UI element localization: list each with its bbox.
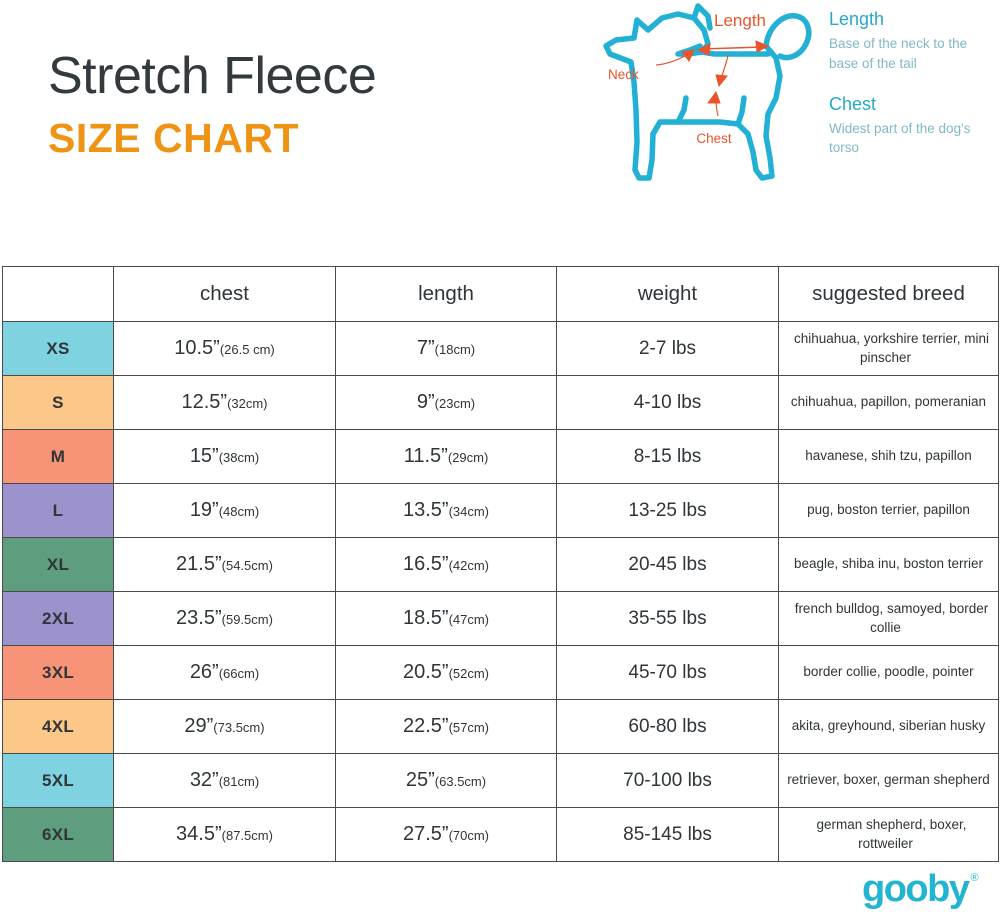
registered-trademark-icon: ® bbox=[970, 872, 978, 884]
weight-value: 13-25 lbs bbox=[628, 500, 706, 521]
breed-cell: chihuahua, yorkshire terrier, mini pinsc… bbox=[779, 322, 999, 376]
size-label: L bbox=[53, 501, 64, 520]
diagram-label-chest: Chest bbox=[696, 131, 732, 146]
weight-value: 70-100 lbs bbox=[623, 770, 712, 791]
breed-cell: german shepherd, boxer, rottweiler bbox=[779, 808, 999, 862]
breed-value: chihuahua, papillon, pomeranian bbox=[785, 394, 992, 409]
chest-measurement-cell: 32”(81cm) bbox=[114, 754, 336, 808]
weight-cell: 20-45 lbs bbox=[557, 538, 779, 592]
size-label: 6XL bbox=[42, 825, 74, 844]
weight-cell: 13-25 lbs bbox=[557, 484, 779, 538]
length-value: 22.5”(57cm) bbox=[403, 715, 489, 737]
breed-cell: french bulldog, samoyed, border collie bbox=[779, 592, 999, 646]
size-swatch-cell: 4XL bbox=[3, 700, 114, 754]
breed-cell: chihuahua, papillon, pomeranian bbox=[779, 376, 999, 430]
table-row: 2XL23.5”(59.5cm)18.5”(47cm)35-55 lbsfren… bbox=[3, 592, 999, 646]
size-label: 3XL bbox=[42, 663, 74, 682]
table-row: 3XL26”(66cm)20.5”(52cm)45-70 lbsborder c… bbox=[3, 646, 999, 700]
length-value: 7”(18cm) bbox=[417, 337, 475, 359]
breed-cell: havanese, shih tzu, papillon bbox=[779, 430, 999, 484]
weight-value: 35-55 lbs bbox=[628, 608, 706, 629]
breed-cell: akita, greyhound, siberian husky bbox=[779, 700, 999, 754]
chest-measurement-cell: 21.5”(54.5cm) bbox=[114, 538, 336, 592]
length-value: 25”(63.5cm) bbox=[406, 769, 486, 791]
size-swatch-cell: XS bbox=[3, 322, 114, 376]
breed-value: akita, greyhound, siberian husky bbox=[786, 718, 992, 733]
chest-value: 12.5”(32cm) bbox=[181, 391, 267, 413]
length-measurement-cell: 27.5”(70cm) bbox=[336, 808, 557, 862]
weight-cell: 2-7 lbs bbox=[557, 322, 779, 376]
breed-value: retriever, boxer, german shepherd bbox=[781, 772, 996, 787]
column-header-size bbox=[3, 267, 114, 322]
length-measurement-cell: 11.5”(29cm) bbox=[336, 430, 557, 484]
legend-description-chest: Widest part of the dog's torso bbox=[829, 119, 994, 157]
chest-value: 21.5”(54.5cm) bbox=[176, 553, 273, 575]
table-row: 6XL34.5”(87.5cm)27.5”(70cm)85-145 lbsger… bbox=[3, 808, 999, 862]
length-measurement-cell: 9”(23cm) bbox=[336, 376, 557, 430]
weight-value: 20-45 lbs bbox=[628, 554, 706, 575]
gooby-logo: gooby ® bbox=[862, 870, 979, 908]
breed-value: havanese, shih tzu, papillon bbox=[799, 448, 978, 463]
legend-description-length: Base of the neck to the base of the tail bbox=[829, 34, 994, 72]
weight-cell: 35-55 lbs bbox=[557, 592, 779, 646]
chest-measurement-cell: 23.5”(59.5cm) bbox=[114, 592, 336, 646]
weight-value: 4-10 lbs bbox=[634, 392, 702, 413]
dog-outline-icon bbox=[606, 6, 809, 178]
weight-value: 85-145 lbs bbox=[623, 824, 712, 845]
size-label: M bbox=[51, 447, 65, 466]
length-measurement-cell: 25”(63.5cm) bbox=[336, 754, 557, 808]
column-header-chest: chest bbox=[114, 267, 336, 322]
legend-heading-chest: Chest bbox=[829, 93, 994, 116]
breed-value: chihuahua, yorkshire terrier, mini pinsc… bbox=[788, 331, 989, 364]
size-chart-table: chest length weight suggested breed XS10… bbox=[2, 266, 999, 862]
diagram-label-length: Length bbox=[714, 11, 766, 30]
chest-measurement-cell: 15”(38cm) bbox=[114, 430, 336, 484]
weight-value: 8-15 lbs bbox=[634, 446, 702, 467]
table-row: 5XL32”(81cm)25”(63.5cm)70-100 lbsretriev… bbox=[3, 754, 999, 808]
length-measurement-cell: 16.5”(42cm) bbox=[336, 538, 557, 592]
chest-measurement-cell: 26”(66cm) bbox=[114, 646, 336, 700]
size-label: 4XL bbox=[42, 717, 74, 736]
table-row: L19”(48cm)13.5”(34cm)13-25 lbspug, bosto… bbox=[3, 484, 999, 538]
legend-group-chest: Chest Widest part of the dog's torso bbox=[829, 93, 994, 158]
length-value: 27.5”(70cm) bbox=[403, 823, 489, 845]
length-value: 9”(23cm) bbox=[417, 391, 475, 413]
table-row: M15”(38cm)11.5”(29cm)8-15 lbshavanese, s… bbox=[3, 430, 999, 484]
chest-value: 34.5”(87.5cm) bbox=[176, 823, 273, 845]
diagram-label-neck: Neck bbox=[608, 67, 639, 82]
chest-measurement-cell: 19”(48cm) bbox=[114, 484, 336, 538]
weight-value: 45-70 lbs bbox=[628, 662, 706, 683]
column-header-length: length bbox=[336, 267, 557, 322]
length-measurement-cell: 22.5”(57cm) bbox=[336, 700, 557, 754]
table-row: 4XL29”(73.5cm)22.5”(57cm)60-80 lbsakita,… bbox=[3, 700, 999, 754]
weight-value: 60-80 lbs bbox=[628, 716, 706, 737]
table-row: S12.5”(32cm)9”(23cm)4-10 lbschihuahua, p… bbox=[3, 376, 999, 430]
breed-value: pug, boston terrier, papillon bbox=[801, 502, 976, 517]
length-measurement-cell: 18.5”(47cm) bbox=[336, 592, 557, 646]
page-title: Stretch Fleece bbox=[48, 48, 528, 105]
length-value: 18.5”(47cm) bbox=[403, 607, 489, 629]
breed-value: beagle, shiba inu, boston terrier bbox=[788, 556, 989, 571]
weight-value: 2-7 lbs bbox=[639, 338, 696, 359]
length-measurement-cell: 20.5”(52cm) bbox=[336, 646, 557, 700]
chest-value: 23.5”(59.5cm) bbox=[176, 607, 273, 629]
measurement-legend: Length Base of the neck to the base of t… bbox=[829, 8, 994, 177]
breed-value: german shepherd, boxer, rottweiler bbox=[810, 817, 966, 850]
weight-cell: 8-15 lbs bbox=[557, 430, 779, 484]
breed-value: french bulldog, samoyed, border collie bbox=[789, 601, 989, 634]
legend-group-length: Length Base of the neck to the base of t… bbox=[829, 8, 994, 73]
size-label: 2XL bbox=[42, 609, 74, 628]
breed-cell: border collie, poodle, pointer bbox=[779, 646, 999, 700]
size-swatch-cell: L bbox=[3, 484, 114, 538]
column-header-weight: weight bbox=[557, 267, 779, 322]
title-block: Stretch Fleece SIZE CHART bbox=[48, 48, 528, 162]
length-value: 16.5”(42cm) bbox=[403, 553, 489, 575]
breed-value: border collie, poodle, pointer bbox=[797, 664, 979, 679]
size-label: XS bbox=[46, 339, 69, 358]
size-label: 5XL bbox=[42, 771, 74, 790]
chest-measurement-cell: 10.5”(26.5 cm) bbox=[114, 322, 336, 376]
chest-value: 10.5”(26.5 cm) bbox=[174, 337, 275, 359]
dog-measurement-diagram: Length Neck Chest bbox=[590, 2, 820, 198]
column-header-breed: suggested breed bbox=[779, 267, 999, 322]
chest-value: 26”(66cm) bbox=[190, 661, 259, 683]
page-subtitle: SIZE CHART bbox=[48, 115, 528, 162]
chest-measurement-cell: 29”(73.5cm) bbox=[114, 700, 336, 754]
chest-value: 29”(73.5cm) bbox=[184, 715, 264, 737]
table-header-row: chest length weight suggested breed bbox=[3, 267, 999, 322]
weight-cell: 85-145 lbs bbox=[557, 808, 779, 862]
chest-value: 19”(48cm) bbox=[190, 499, 259, 521]
length-measurement-cell: 13.5”(34cm) bbox=[336, 484, 557, 538]
size-swatch-cell: XL bbox=[3, 538, 114, 592]
chest-measurement-cell: 34.5”(87.5cm) bbox=[114, 808, 336, 862]
size-swatch-cell: 3XL bbox=[3, 646, 114, 700]
breed-cell: beagle, shiba inu, boston terrier bbox=[779, 538, 999, 592]
chest-value: 15”(38cm) bbox=[190, 445, 259, 467]
weight-cell: 60-80 lbs bbox=[557, 700, 779, 754]
weight-cell: 70-100 lbs bbox=[557, 754, 779, 808]
size-swatch-cell: 5XL bbox=[3, 754, 114, 808]
size-swatch-cell: 2XL bbox=[3, 592, 114, 646]
size-swatch-cell: S bbox=[3, 376, 114, 430]
length-value: 13.5”(34cm) bbox=[403, 499, 489, 521]
size-label: S bbox=[52, 393, 64, 412]
breed-cell: retriever, boxer, german shepherd bbox=[779, 754, 999, 808]
breed-cell: pug, boston terrier, papillon bbox=[779, 484, 999, 538]
legend-heading-length: Length bbox=[829, 8, 994, 31]
length-value: 20.5”(52cm) bbox=[403, 661, 489, 683]
weight-cell: 4-10 lbs bbox=[557, 376, 779, 430]
page-header: Stretch Fleece SIZE CHART bbox=[0, 0, 1000, 255]
size-label: XL bbox=[47, 555, 69, 574]
length-value: 11.5”(29cm) bbox=[404, 445, 489, 467]
chest-value: 32”(81cm) bbox=[190, 769, 259, 791]
logo-wordmark: gooby bbox=[862, 870, 968, 908]
size-swatch-cell: 6XL bbox=[3, 808, 114, 862]
table-row: XS10.5”(26.5 cm)7”(18cm)2-7 lbschihuahua… bbox=[3, 322, 999, 376]
size-swatch-cell: M bbox=[3, 430, 114, 484]
weight-cell: 45-70 lbs bbox=[557, 646, 779, 700]
table-row: XL21.5”(54.5cm)16.5”(42cm)20-45 lbsbeagl… bbox=[3, 538, 999, 592]
length-measurement-cell: 7”(18cm) bbox=[336, 322, 557, 376]
chest-measurement-cell: 12.5”(32cm) bbox=[114, 376, 336, 430]
